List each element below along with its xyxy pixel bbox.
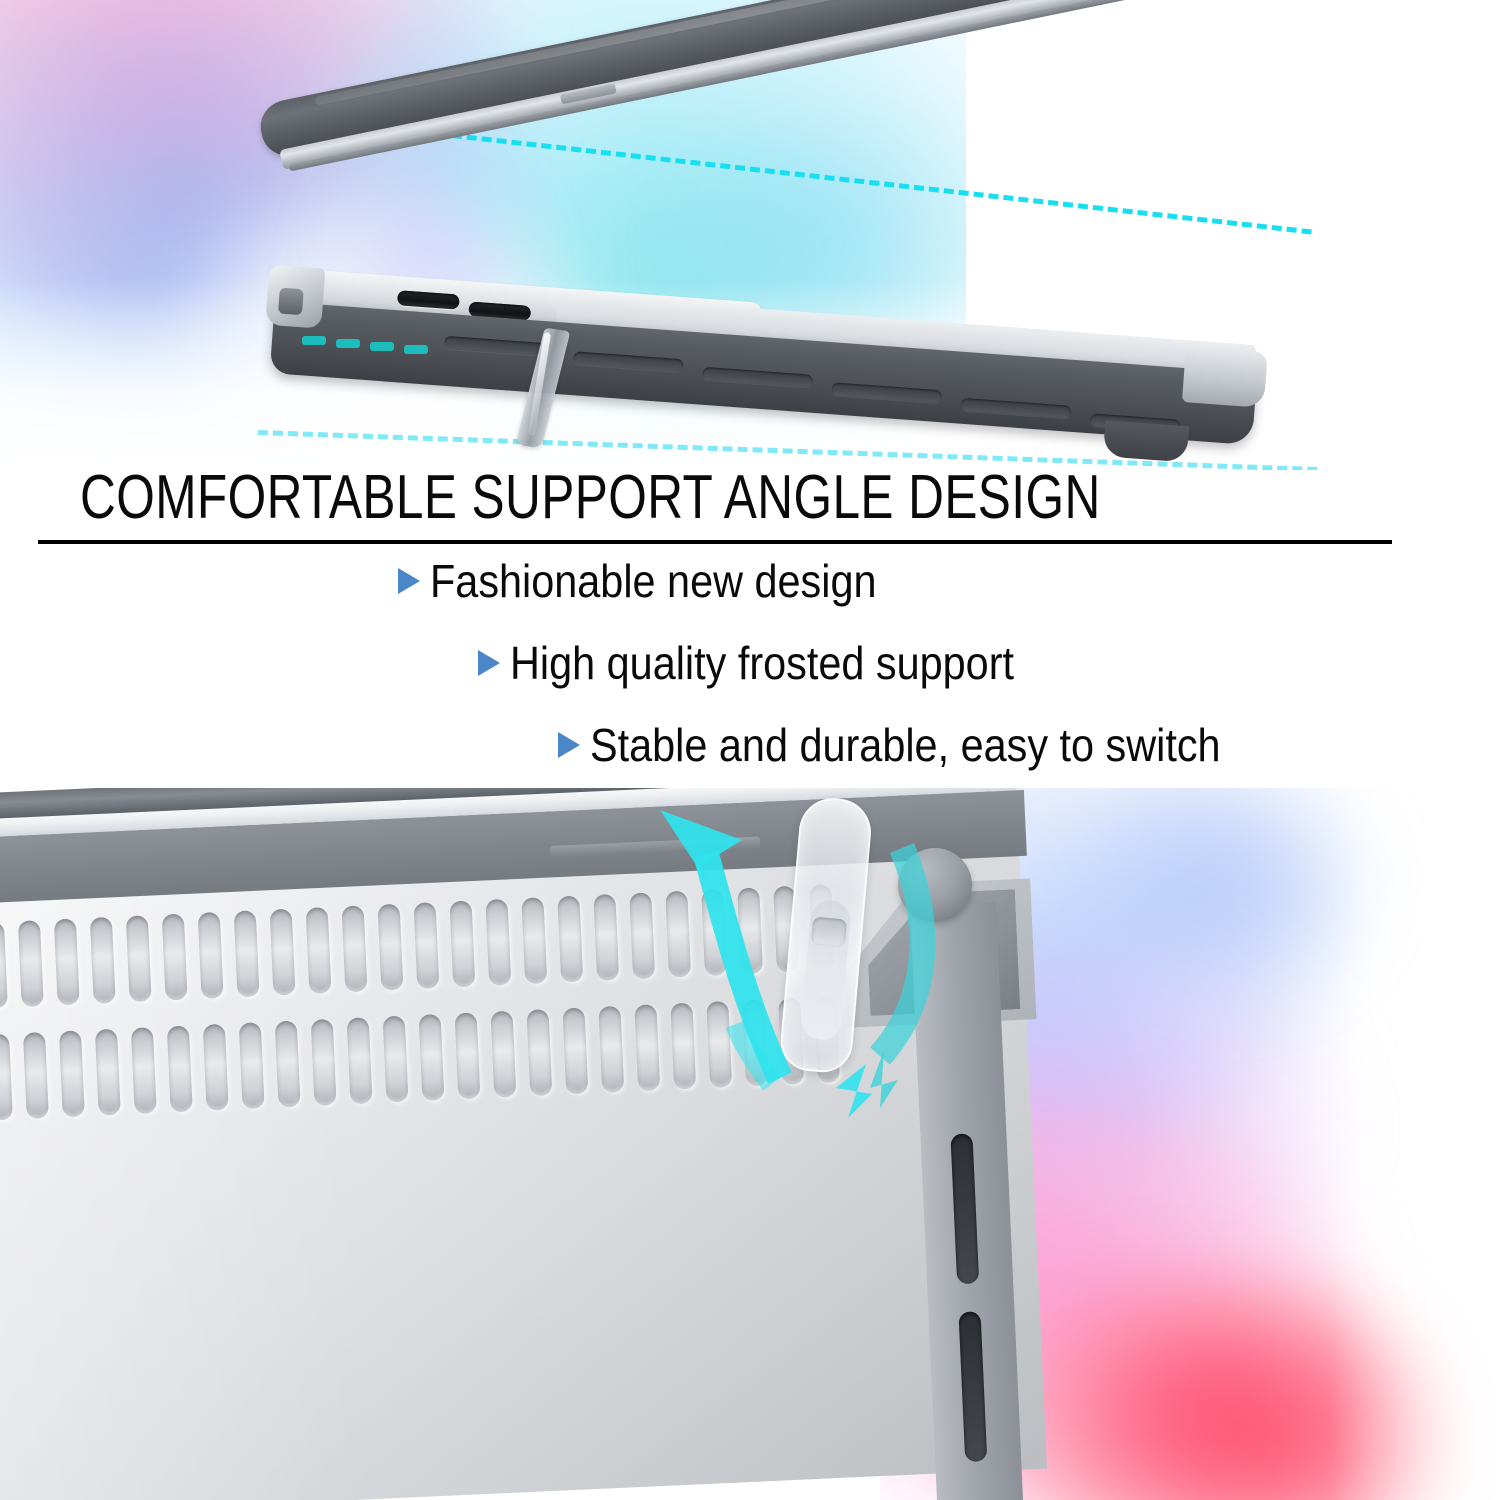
feature-bullet-label: Fashionable new design xyxy=(430,555,877,607)
vent-slot xyxy=(485,899,511,986)
top-illustration-panel xyxy=(0,0,1500,470)
vent-slot xyxy=(629,892,655,979)
vent-slot xyxy=(449,901,475,988)
product-feature-page: COMFORTABLE SUPPORT ANGLE DESIGN Fashion… xyxy=(0,0,1500,1500)
vent-slot xyxy=(306,907,332,994)
feature-text-block: COMFORTABLE SUPPORT ANGLE DESIGN Fashion… xyxy=(0,455,1500,800)
laptop-base-case xyxy=(248,258,1268,470)
port-cutout xyxy=(958,1311,987,1462)
vent-slot xyxy=(234,910,260,997)
vent-slot xyxy=(54,918,80,1005)
vent-slot xyxy=(275,1021,301,1108)
base-tail-edge xyxy=(1182,346,1268,408)
vent-slot xyxy=(737,887,763,974)
feature-bullet-label: Stable and durable, easy to switch xyxy=(590,719,1221,771)
vent-slot xyxy=(167,1025,193,1112)
vent-slot xyxy=(126,915,152,1002)
teal-accent-strip xyxy=(404,345,428,354)
vent-slot xyxy=(270,909,296,996)
watercolor-fade-bottom xyxy=(1330,788,1500,1500)
feature-bullet-0: Fashionable new design xyxy=(398,555,926,607)
vent-slot xyxy=(0,1034,13,1121)
triangle-right-icon xyxy=(558,732,580,758)
vent-slot xyxy=(203,1024,229,1111)
vent-slot xyxy=(593,894,619,981)
vent-slot xyxy=(598,1006,624,1093)
vent-slot xyxy=(18,920,44,1007)
round-rubber-foot xyxy=(898,848,972,922)
vent-slot xyxy=(413,902,439,989)
vent-slot xyxy=(378,904,404,991)
vent-slot xyxy=(59,1030,85,1117)
title-divider-rule xyxy=(38,540,1392,544)
vent-slot xyxy=(742,999,768,1086)
vent-slot xyxy=(162,914,188,1001)
kickstand-pivot-pin xyxy=(811,917,847,948)
vent-slot xyxy=(342,905,368,992)
feature-bullet-2: Stable and durable, easy to switch xyxy=(558,719,1291,771)
vent-slot xyxy=(198,912,224,999)
vent-slot xyxy=(706,1001,732,1088)
vent-slot xyxy=(665,891,691,978)
hinge-inner xyxy=(278,288,304,316)
triangle-right-icon xyxy=(478,650,500,676)
vent-slot xyxy=(521,897,547,984)
vent-slot xyxy=(383,1016,409,1103)
vent-slot xyxy=(701,889,727,976)
vent-slot xyxy=(419,1014,445,1101)
bottom-illustration-panel xyxy=(0,788,1500,1500)
vent-slot xyxy=(490,1011,516,1098)
teal-accent-strip xyxy=(302,336,326,345)
laptop-side-profile-illustration xyxy=(240,0,1270,470)
vent-slot xyxy=(131,1027,157,1114)
page-title: COMFORTABLE SUPPORT ANGLE DESIGN xyxy=(80,463,1152,533)
vent-slot xyxy=(0,922,8,1009)
vent-slot xyxy=(526,1009,552,1096)
vent-slot xyxy=(562,1007,588,1094)
vent-slot xyxy=(311,1019,337,1106)
teal-accent-strip xyxy=(370,342,394,351)
triangle-right-icon xyxy=(398,568,420,594)
vent-slot xyxy=(557,896,583,983)
vent-slot xyxy=(239,1022,265,1109)
feature-bullet-1: High quality frosted support xyxy=(478,637,1070,689)
feature-bullet-label: High quality frosted support xyxy=(510,637,1014,689)
port-cutout xyxy=(950,1133,979,1284)
vent-slot xyxy=(455,1012,481,1099)
vent-slot xyxy=(634,1004,660,1091)
vent-slot xyxy=(670,1003,696,1090)
vent-slot xyxy=(90,917,116,1004)
teal-accent-strip xyxy=(336,339,360,348)
vent-slot xyxy=(95,1029,121,1116)
vent-slot xyxy=(23,1032,49,1119)
vent-slot xyxy=(347,1017,373,1104)
